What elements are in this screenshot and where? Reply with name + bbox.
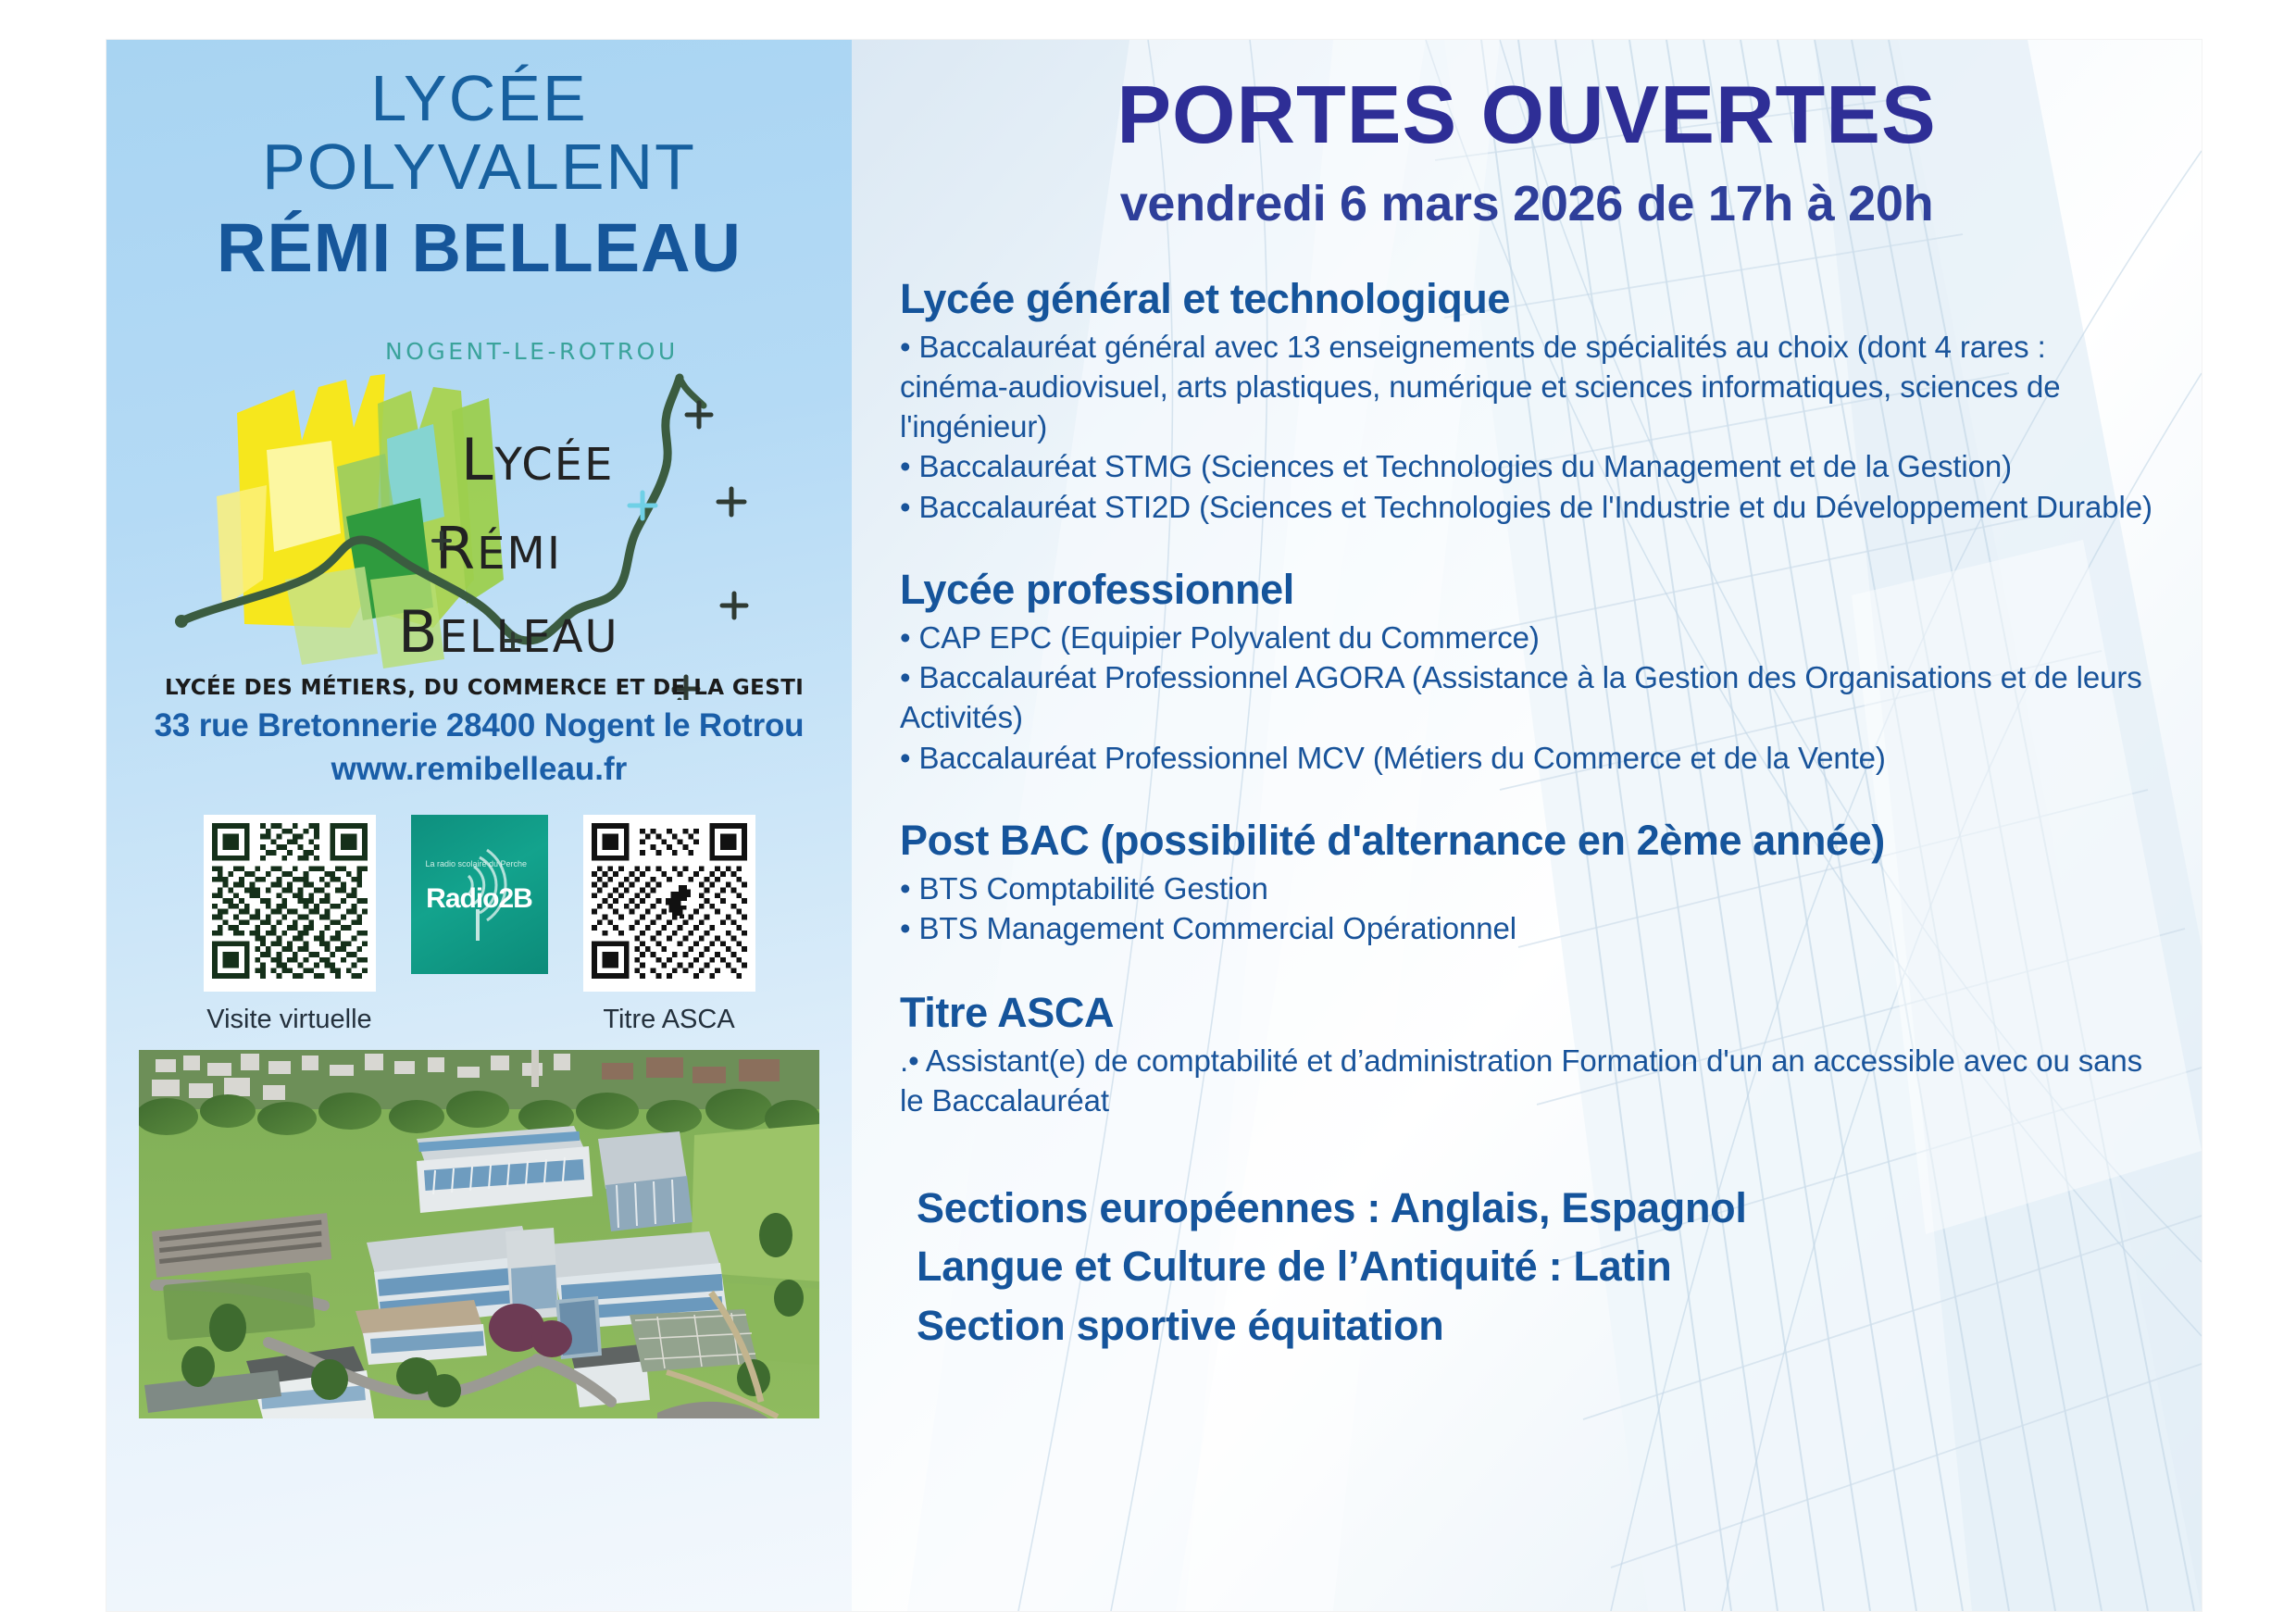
website-link[interactable]: www.remibelleau.fr <box>155 747 805 791</box>
footer-line-section-sportive: Section sportive équitation <box>917 1296 2153 1355</box>
section-heading: Lycée professionnel <box>900 566 2153 614</box>
section-post-bac: Post BAC (possibilité d'alternance en 2è… <box>900 817 2153 948</box>
school-logo: NOGENT-LE-ROTROU LYCÉE RÉMI BELLEAU <box>156 302 804 700</box>
poster-date: vendredi 6 mars 2026 de 17h à 20h <box>900 175 2153 232</box>
radio2b-logo: La radio scolaire du Perche Radi <box>411 815 548 974</box>
logo-plus-marks <box>674 403 746 700</box>
qr-code-icon <box>592 823 747 979</box>
footer-line-sections-europeennes: Sections européennes : Anglais, Espagnol <box>917 1179 2153 1238</box>
poster-sheet: LYCÉE POLYVALENT RÉMI BELLEAU <box>106 40 2202 1611</box>
section-bullet: • Baccalauréat STI2D (Sciences et Techno… <box>900 487 2153 527</box>
school-title-block: LYCÉE POLYVALENT RÉMI BELLEAU <box>217 64 742 285</box>
qr-label-visite-virtuelle: Visite virtuelle <box>206 1005 371 1035</box>
section-heading: Lycée général et technologique <box>900 275 2153 323</box>
school-logo-graphic: NOGENT-LE-ROTROU LYCÉE RÉMI BELLEAU <box>156 302 804 700</box>
radio2b-logo-cell: La radio scolaire du Perche Radi <box>411 815 548 1016</box>
section-lycee-general: Lycée général et technologique • Baccala… <box>900 275 2153 527</box>
section-bullet: • CAP EPC (Equipier Polyvalent du Commer… <box>900 618 2153 657</box>
section-bullet: • Baccalauréat STMG (Sciences et Technol… <box>900 446 2153 486</box>
qr-label-titre-asca: Titre ASCA <box>603 1005 734 1035</box>
qr-code-icon <box>212 823 368 979</box>
logo-word-lycee: LYCÉE <box>461 426 614 493</box>
radio2b-name: Radio2B <box>426 883 532 915</box>
right-panel: PORTES OUVERTES vendredi 6 mars 2026 de … <box>852 40 2202 1611</box>
address-block: 33 rue Bretonnerie 28400 Nogent le Rotro… <box>155 704 805 792</box>
qr-cell-titre-asca[interactable]: Titre ASCA <box>583 815 755 1035</box>
section-heading: Titre ASCA <box>900 989 2153 1037</box>
aerial-school-photo <box>139 1050 819 1418</box>
section-heading: Post BAC (possibilité d'alternance en 2è… <box>900 817 2153 865</box>
address-line: 33 rue Bretonnerie 28400 Nogent le Rotro… <box>155 704 805 747</box>
footer-line-langue-antiquite: Langue et Culture de l’Antiquité : Latin <box>917 1237 2153 1296</box>
logo-town-label: NOGENT-LE-ROTROU <box>385 338 679 365</box>
section-bullet: • BTS Management Commercial Opérationnel <box>900 908 2153 948</box>
section-bullet: • BTS Comptabilité Gestion <box>900 868 2153 908</box>
footer-options: Sections européennes : Anglais, Espagnol… <box>900 1179 2153 1356</box>
section-bullet: • Baccalauréat général avec 13 enseignem… <box>900 327 2153 447</box>
section-titre-asca: Titre ASCA .• Assistant(e) de comptabili… <box>900 989 2153 1120</box>
school-title-line1: LYCÉE <box>217 64 742 132</box>
qr-row: Visite virtuelle La radio scolaire du Pe… <box>106 815 852 1035</box>
qr-code-visite-virtuelle[interactable] <box>204 815 376 992</box>
section-lycee-professionnel: Lycée professionnel • CAP EPC (Equipier … <box>900 566 2153 778</box>
qr-cell-visite-virtuelle[interactable]: Visite virtuelle <box>204 815 376 1035</box>
logo-tagline: LYCÉE DES MÉTIERS, DU COMMERCE ET DE LA … <box>165 674 804 700</box>
school-title-line2: POLYVALENT <box>217 132 742 201</box>
qr-code-titre-asca[interactable] <box>583 815 755 992</box>
section-bullet: • Baccalauréat Professionnel MCV (Métier… <box>900 738 2153 778</box>
left-panel: LYCÉE POLYVALENT RÉMI BELLEAU <box>106 40 852 1611</box>
aerial-photo-graphic <box>139 1050 819 1418</box>
section-bullet: • Baccalauréat Professionnel AGORA (Assi… <box>900 657 2153 737</box>
school-title-line3: RÉMI BELLEAU <box>217 212 742 284</box>
section-bullet: .• Assistant(e) de comptabilité et d’adm… <box>900 1041 2153 1120</box>
poster-headline: PORTES OUVERTES <box>900 73 2153 156</box>
right-content: PORTES OUVERTES vendredi 6 mars 2026 de … <box>852 40 2202 1355</box>
